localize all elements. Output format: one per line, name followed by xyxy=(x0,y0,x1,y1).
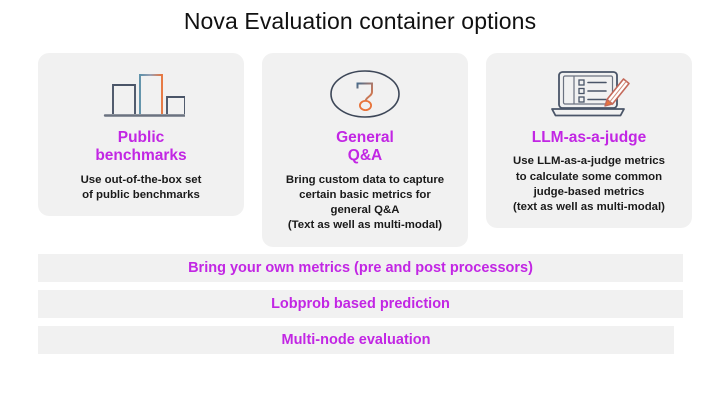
bar-multi-node-evaluation[interactable]: Multi-node evaluation xyxy=(38,326,674,354)
bar-chart-icon xyxy=(97,65,185,123)
question-mark-bubble-icon xyxy=(324,65,406,123)
bar-label: Bring your own metrics (pre and post pro… xyxy=(188,260,533,276)
bar-lobprob-based-prediction[interactable]: Lobprob based prediction xyxy=(38,290,683,318)
bar-label: Lobprob based prediction xyxy=(271,296,450,312)
card-heading: General Q&A xyxy=(336,129,394,166)
card-body: Use LLM-as-a-judge metrics to calculate … xyxy=(513,154,665,215)
cards-row: Public benchmarks Use out-of-the-box set… xyxy=(38,53,692,247)
bar-label: Multi-node evaluation xyxy=(281,332,430,348)
card-general-qa[interactable]: General Q&A Bring custom data to capture… xyxy=(262,53,468,247)
card-llm-as-a-judge[interactable]: LLM-as-a-judge Use LLM-as-a-judge metric… xyxy=(486,53,692,228)
card-body: Use out-of-the-box set of public benchma… xyxy=(81,173,202,204)
card-public-benchmarks[interactable]: Public benchmarks Use out-of-the-box set… xyxy=(38,53,244,216)
bottom-bars-group: Bring your own metrics (pre and post pro… xyxy=(38,254,683,354)
bar-bring-your-own-metrics[interactable]: Bring your own metrics (pre and post pro… xyxy=(38,254,683,282)
card-heading: Public benchmarks xyxy=(95,129,186,166)
laptop-checklist-pencil-icon xyxy=(546,65,632,123)
card-body: Bring custom data to capture certain bas… xyxy=(286,173,444,234)
page-title: Nova Evaluation container options xyxy=(0,8,720,35)
card-heading: LLM-as-a-judge xyxy=(532,129,647,147)
slide-canvas: Nova Evaluation container options xyxy=(0,0,720,405)
